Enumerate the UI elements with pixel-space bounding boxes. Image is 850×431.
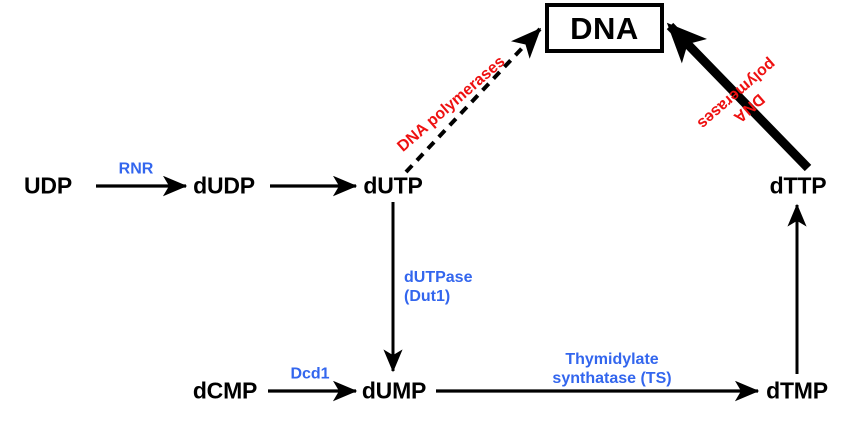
node-dcmp[interactable]: dCMP bbox=[193, 380, 257, 403]
node-dudp[interactable]: dUDP bbox=[193, 175, 255, 198]
enzyme-label-rnr: RNR bbox=[119, 161, 154, 180]
pathway-diagram: UDP dUDP dUTP dTTP dCMP dUMP dTMP DNA RN… bbox=[0, 0, 850, 431]
enzyme-label-thymidylate-synthatase: Thymidylate synthatase (TS) bbox=[552, 351, 671, 389]
node-udp[interactable]: UDP bbox=[24, 175, 72, 198]
node-dump[interactable]: dUMP bbox=[362, 380, 426, 403]
node-dutp[interactable]: dUTP bbox=[363, 175, 422, 198]
node-dttp[interactable]: dTTP bbox=[770, 175, 827, 198]
dna-box[interactable]: DNA bbox=[545, 3, 664, 53]
arrow-layer bbox=[0, 0, 850, 431]
edge-dutp-to-dna bbox=[406, 29, 540, 172]
dna-box-label: DNA bbox=[570, 13, 639, 44]
enzyme-label-dcd1: Dcd1 bbox=[290, 366, 329, 385]
node-dtmp[interactable]: dTMP bbox=[766, 380, 828, 403]
enzyme-label-dutpase: dUTPase (Dut1) bbox=[404, 269, 472, 307]
